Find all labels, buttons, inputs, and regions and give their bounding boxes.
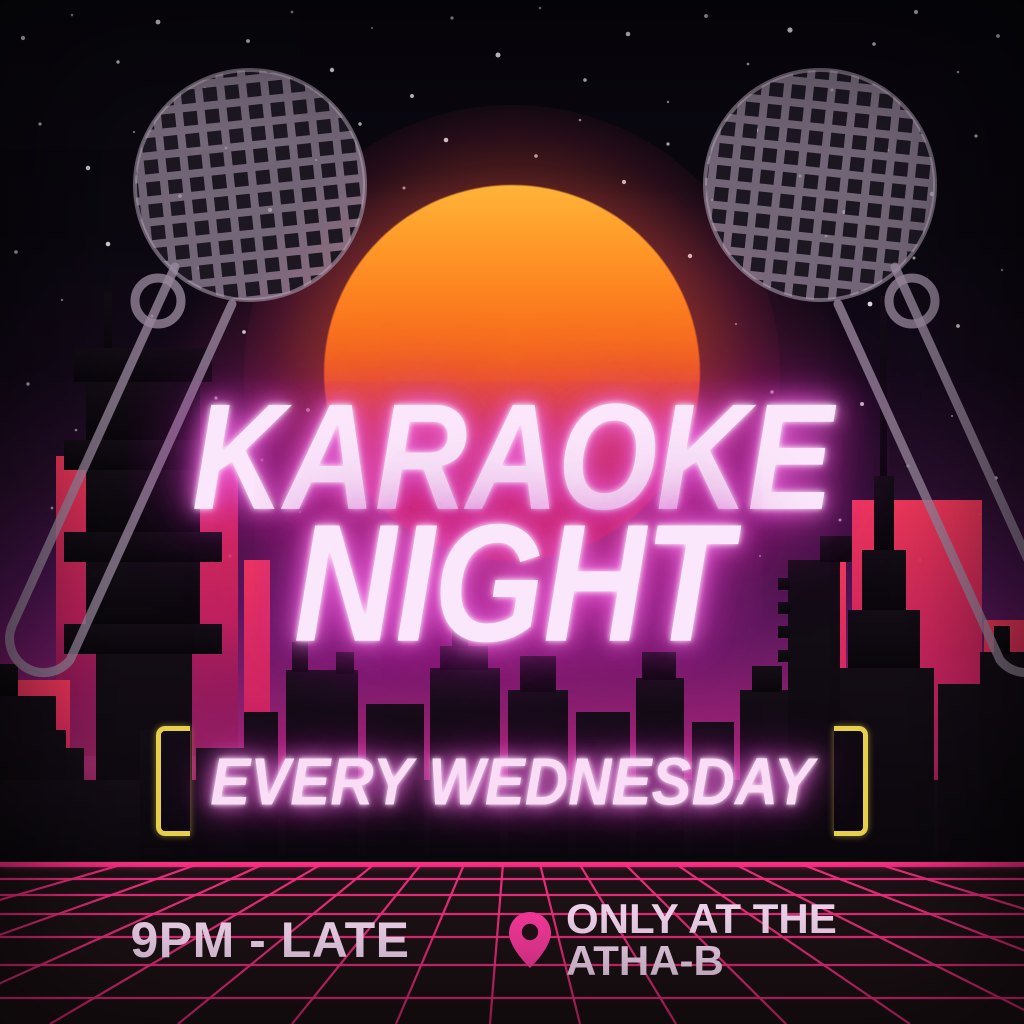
venue-line-1: ONLY AT THE	[566, 898, 837, 940]
poster-canvas: KARAOKE NIGHT EVERY WEDNESDAY	[0, 0, 1024, 1024]
title-line-night: NIGHT	[0, 511, 1024, 658]
venue-line-2: ATHA-B	[566, 940, 837, 982]
map-pin-icon	[508, 911, 552, 969]
poster-title: KARAOKE NIGHT	[0, 392, 1024, 636]
subtitle-text: EVERY WEDNESDAY	[210, 742, 814, 819]
bracket-right-icon	[834, 726, 868, 836]
subtitle-row: EVERY WEDNESDAY	[0, 726, 1024, 836]
venue-block: ONLY AT THE ATHA-B	[508, 898, 837, 982]
poster-footer: 9PM - LATE ONLY AT THE ATHA-B	[0, 862, 1024, 1024]
venue-name-text: ONLY AT THE ATHA-B	[566, 898, 837, 982]
bracket-left-icon	[156, 726, 190, 836]
event-time-text: 9PM - LATE	[60, 911, 480, 969]
